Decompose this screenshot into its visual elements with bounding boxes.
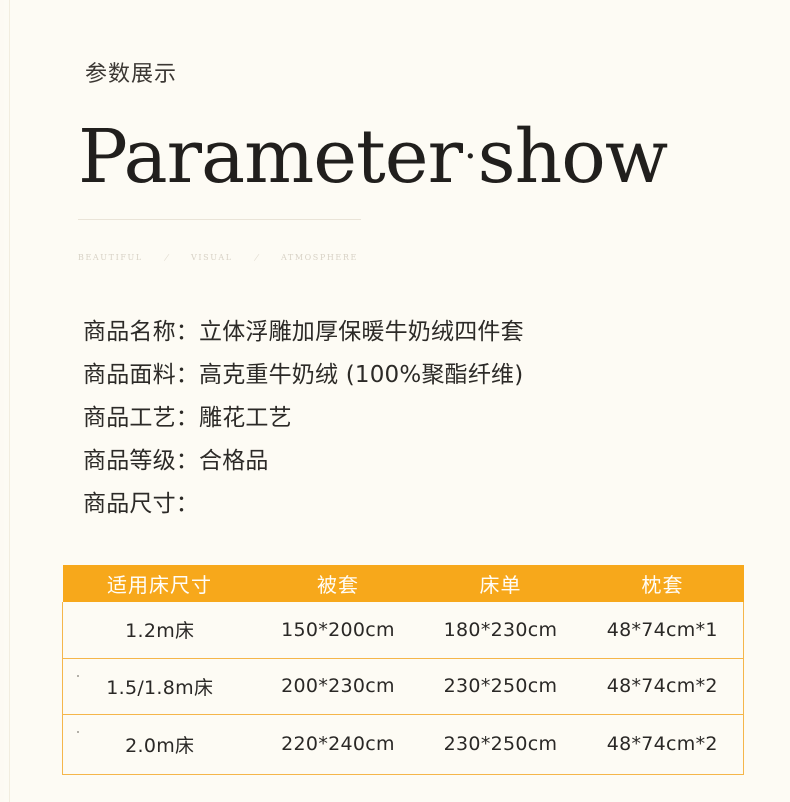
cell-pillowcase: 48*74cm*2 — [582, 714, 744, 774]
cell-bed-size: 2.0m床 — [63, 714, 257, 774]
spec-product-craft: 商品工艺：雕花工艺 — [83, 397, 723, 440]
table-row: 1.5/1.8m床 200*230cm 230*250cm 48*74cm*2 — [63, 658, 744, 714]
left-edge-seam — [9, 0, 10, 802]
specification-list: 商品名称：立体浮雕加厚保暖牛奶绒四件套 商品面料：高克重牛奶绒 (100%聚酯纤… — [83, 311, 723, 526]
cell-bed-size: 1.5/1.8m床 — [63, 658, 257, 714]
column-header-duvet-cover: 被套 — [257, 565, 420, 602]
kicker-line: BEAUTIFUL/VISUAL/ATMOSPHERE — [78, 252, 358, 264]
kicker-word-beautiful: BEAUTIFUL — [78, 253, 143, 262]
display-title-en: Parameter·show — [78, 113, 718, 201]
kicker-word-atmosphere: ATMOSPHERE — [281, 253, 358, 262]
size-table-header: 适用床尺寸 被套 床单 枕套 — [63, 565, 744, 602]
column-header-bed-size: 适用床尺寸 — [63, 565, 257, 602]
cell-bed-sheet: 230*250cm — [420, 658, 582, 714]
size-table-body: 1.2m床 150*200cm 180*230cm 48*74cm*1 1.5/… — [63, 602, 744, 774]
table-row: 1.2m床 150*200cm 180*230cm 48*74cm*1 — [63, 602, 744, 658]
cell-duvet-cover: 220*240cm — [257, 714, 420, 774]
table-row: 2.0m床 220*240cm 230*250cm 48*74cm*2 — [63, 714, 744, 774]
table-header-row: 适用床尺寸 被套 床单 枕套 — [63, 565, 744, 602]
title-divider — [78, 219, 361, 220]
spec-product-name: 商品名称：立体浮雕加厚保暖牛奶绒四件套 — [83, 311, 723, 354]
cell-bed-sheet: 180*230cm — [420, 602, 582, 658]
kicker-word-visual: VISUAL — [191, 253, 233, 262]
cell-bed-sheet: 230*250cm — [420, 714, 582, 774]
cell-duvet-cover: 150*200cm — [257, 602, 420, 658]
spec-product-size: 商品尺寸： — [83, 483, 723, 526]
spec-product-grade: 商品等级：合格品 — [83, 440, 723, 483]
spec-product-fabric: 商品面料：高克重牛奶绒 (100%聚酯纤维) — [83, 354, 723, 397]
parameter-show-page: 参数展示 Parameter·show BEAUTIFUL/VISUAL/ATM… — [0, 0, 790, 802]
display-title-word-1: Parameter — [78, 114, 462, 200]
cell-duvet-cover: 200*230cm — [257, 658, 420, 714]
display-title-dot-separator: · — [462, 113, 478, 201]
display-title-word-2: show — [478, 114, 668, 200]
kicker-separator-1: / — [140, 252, 193, 264]
size-specification-table: 适用床尺寸 被套 床单 枕套 1.2m床 150*200cm 180*230cm… — [62, 565, 744, 775]
column-header-bed-sheet: 床单 — [420, 565, 582, 602]
left-edge-strip — [0, 0, 4, 802]
column-header-pillowcase: 枕套 — [582, 565, 744, 602]
kicker-separator-2: / — [230, 252, 283, 264]
cell-pillowcase: 48*74cm*1 — [582, 602, 744, 658]
cell-pillowcase: 48*74cm*2 — [582, 658, 744, 714]
section-heading-cn: 参数展示 — [85, 60, 177, 90]
cell-bed-size: 1.2m床 — [63, 602, 257, 658]
